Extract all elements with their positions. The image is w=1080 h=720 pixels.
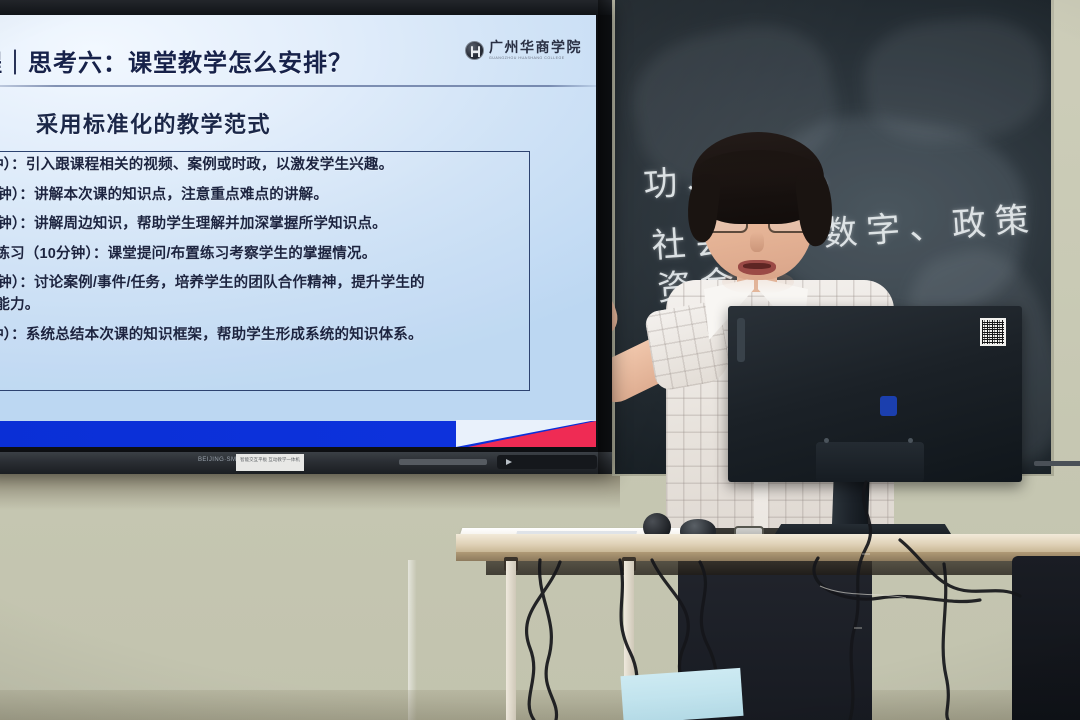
slide-line: 思辨能力。 bbox=[0, 297, 526, 313]
presentation-slide: 程｜思考六：课堂教学怎么安排？ 广州华商学院 GUANGZHOU HUASHAN… bbox=[0, 15, 596, 447]
slide-body-lines: 5分钟）：引入跟课程相关的视频、案例或时政，以激发学生兴趣。 30分钟）：讲解本… bbox=[0, 157, 526, 356]
monitor-screw bbox=[908, 438, 913, 443]
shield-crest-icon bbox=[465, 41, 484, 60]
nose bbox=[750, 232, 764, 252]
panel-screen[interactable]: 程｜思考六：课堂教学怎么安排？ 广州华商学院 GUANGZHOU HUASHAN… bbox=[0, 15, 596, 447]
blue-cable-connector bbox=[880, 396, 897, 416]
panel-top-bezel bbox=[0, 0, 612, 15]
slide-line: 课堂练习（10分钟）：课堂提问/布置练习考察学生的掌握情况。 bbox=[0, 246, 526, 262]
mouth bbox=[738, 260, 776, 275]
monitor-hinge bbox=[816, 442, 924, 482]
slide-line: 10分钟）：讲解周边知识，帮助学生理解并加深掌握所学知识点。 bbox=[0, 216, 526, 232]
cyan-paper-sheet bbox=[620, 668, 743, 720]
slide-line: 5分钟）：系统总结本次课的知识框架，帮助学生形成系统的知识体系。 bbox=[0, 327, 526, 343]
slide-header-divider bbox=[0, 85, 596, 87]
wall-shadow bbox=[0, 470, 620, 510]
desk-apron bbox=[486, 561, 1080, 575]
slide-line: 5分钟）：引入跟课程相关的视频、案例或时政，以激发学生兴趣。 bbox=[0, 157, 526, 173]
interactive-flat-panel[interactable]: 程｜思考六：课堂教学怎么安排？ 广州华商学院 GUANGZHOU HUASHAN… bbox=[0, 0, 612, 470]
panel-button-strip bbox=[1034, 461, 1080, 466]
desk-edge bbox=[456, 552, 1080, 561]
panel-sensor-strip bbox=[399, 459, 487, 465]
slide-header: 程｜思考六：课堂教学怎么安排？ 广州华商学院 GUANGZHOU HUASHAN… bbox=[0, 37, 596, 83]
university-logo: 广州华商学院 GUANGZHOU HUASHANG COLLEGE bbox=[465, 41, 582, 61]
slide-line: 30分钟）：讨论案例/事件/任务，培养学生的团队合作精神，提升学生的 bbox=[0, 275, 526, 291]
slide-line: 30分钟）：讲解本次课的知识点，注意重点难点的讲解。 bbox=[0, 187, 526, 203]
computer-monitor bbox=[728, 306, 1022, 482]
wall-floor-line bbox=[0, 690, 1080, 720]
logo-name-cn: 广州华商学院 bbox=[489, 41, 582, 55]
desk-leg bbox=[506, 561, 516, 720]
monitor-screw bbox=[824, 438, 829, 443]
desk-surface bbox=[456, 534, 1080, 552]
hair-fringe bbox=[696, 150, 820, 194]
logo-name-en: GUANGZHOU HUASHANG COLLEGE bbox=[489, 57, 582, 61]
classroom-scene: 功、实物、 社会思、数字、政策 资金 bbox=[0, 0, 1080, 720]
qr-code-sticker-icon bbox=[980, 318, 1006, 346]
chair-back bbox=[1012, 556, 1080, 720]
panel-model-label: 智能交互平板 互动教学一体机 bbox=[236, 454, 304, 471]
panel-side-shadow bbox=[598, 0, 614, 474]
panel-power-button[interactable] bbox=[497, 455, 597, 469]
monitor-vent bbox=[737, 318, 745, 362]
slide-header-title: 程｜思考六：课堂教学怎么安排？ bbox=[0, 43, 353, 78]
slide-subtitle: 采用标准化的教学范式 bbox=[36, 107, 271, 139]
panel-bottom-bezel: BEIJING·SMART 智能交互平板 互动教学一体机 bbox=[0, 452, 612, 474]
